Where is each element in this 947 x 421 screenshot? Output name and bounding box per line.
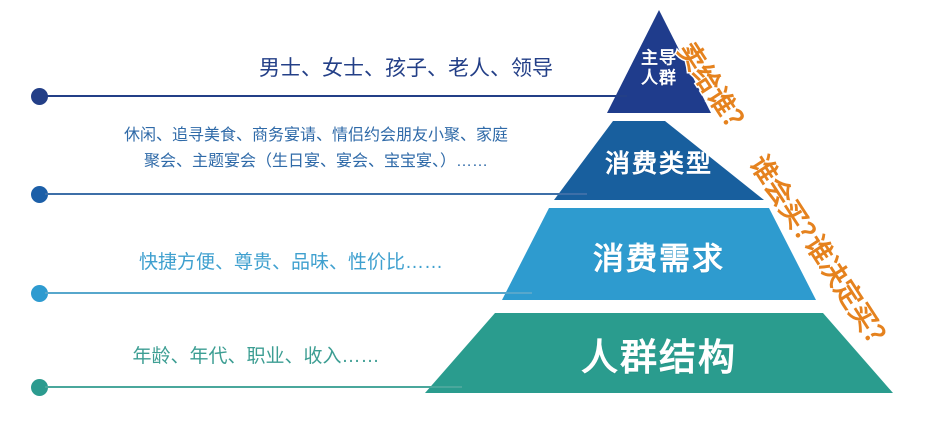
- pyramid-level-4-label: 人群结构: [581, 327, 737, 381]
- pyramid-level-2-label: 消费类型: [605, 144, 713, 180]
- annotation-4-connector-line: [45, 386, 462, 388]
- annotation-3-connector-line: [45, 292, 532, 294]
- annotation-1-connector-line: [45, 95, 627, 97]
- pyramid-infographic: 主导 人群 消费类型 消费需求 人群结构 男士、女士、孩子、老人、领导 休闲、追…: [0, 0, 947, 421]
- pyramid-level-1-label-line2: 人群: [641, 68, 677, 88]
- pyramid-level-3-label: 消费需求: [593, 234, 725, 279]
- pyramid-level-1-label-line1: 主导: [641, 48, 677, 68]
- annotation-2-connector-line: [45, 193, 587, 195]
- annotation-2-text-line-1: 休闲、追寻美食、商务宴请、情侣约会朋友小聚、家庭: [76, 124, 556, 147]
- annotation-1-text: 男士、女士、孩子、老人、领导: [226, 54, 586, 84]
- annotation-2-text-line-2: 聚会、主题宴会（生日宴、宴会、宝宝宴、）……: [76, 150, 556, 173]
- annotation-4-text: 年龄、年代、职业、收入……: [76, 343, 436, 371]
- annotation-3-text: 快捷方便、尊贵、品味、性价比……: [81, 249, 501, 277]
